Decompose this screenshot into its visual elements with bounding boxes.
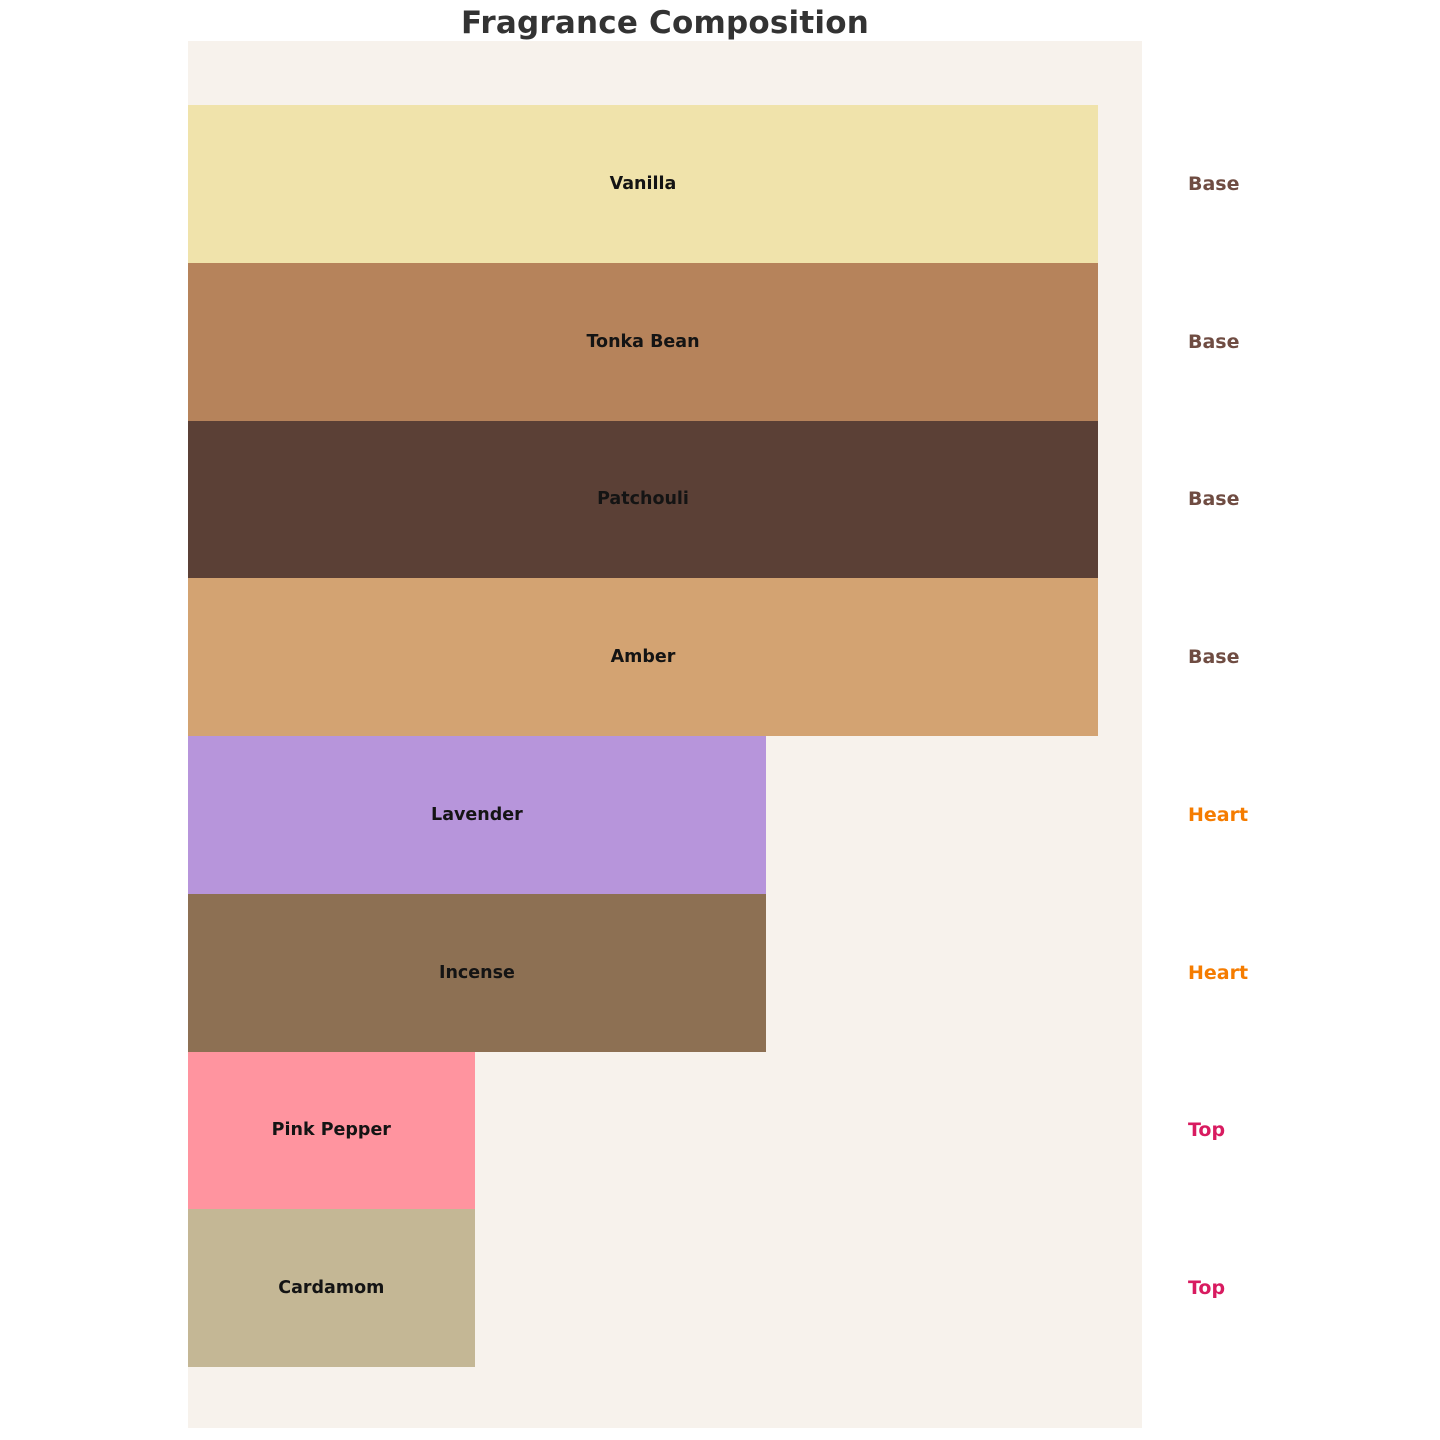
chart-figure: Fragrance Composition VanillaTonka BeanP… (0, 0, 1440, 1440)
bar-label: Amber (611, 647, 676, 667)
bar-label: Pink Pepper (272, 1120, 391, 1140)
bar-row: Pink Pepper (188, 1052, 1142, 1210)
bar-row: Tonka Bean (188, 263, 1142, 421)
page-title: Fragrance Composition (0, 4, 1330, 42)
note-label-top: Top (1188, 1277, 1225, 1299)
note-label-base: Base (1188, 646, 1240, 668)
bar-row: Incense (188, 894, 1142, 1052)
bar-row: Amber (188, 578, 1142, 736)
note-label-heart: Heart (1188, 804, 1248, 826)
bar-row: Cardamom (188, 1209, 1142, 1367)
bar-label: Lavender (431, 805, 523, 825)
bar-label: Vanilla (610, 174, 677, 194)
note-label-base: Base (1188, 331, 1240, 353)
note-label-heart: Heart (1188, 962, 1248, 984)
note-label-base: Base (1188, 488, 1240, 510)
note-label-base: Base (1188, 173, 1240, 195)
bar-label: Cardamom (278, 1278, 384, 1298)
bar-label: Tonka Bean (586, 332, 699, 352)
bar-row: Lavender (188, 736, 1142, 894)
note-label-top: Top (1188, 1119, 1225, 1141)
bar-label: Patchouli (597, 489, 689, 509)
bar-label: Incense (439, 963, 515, 983)
bar-row: Patchouli (188, 421, 1142, 579)
bar-row: Vanilla (188, 105, 1142, 263)
